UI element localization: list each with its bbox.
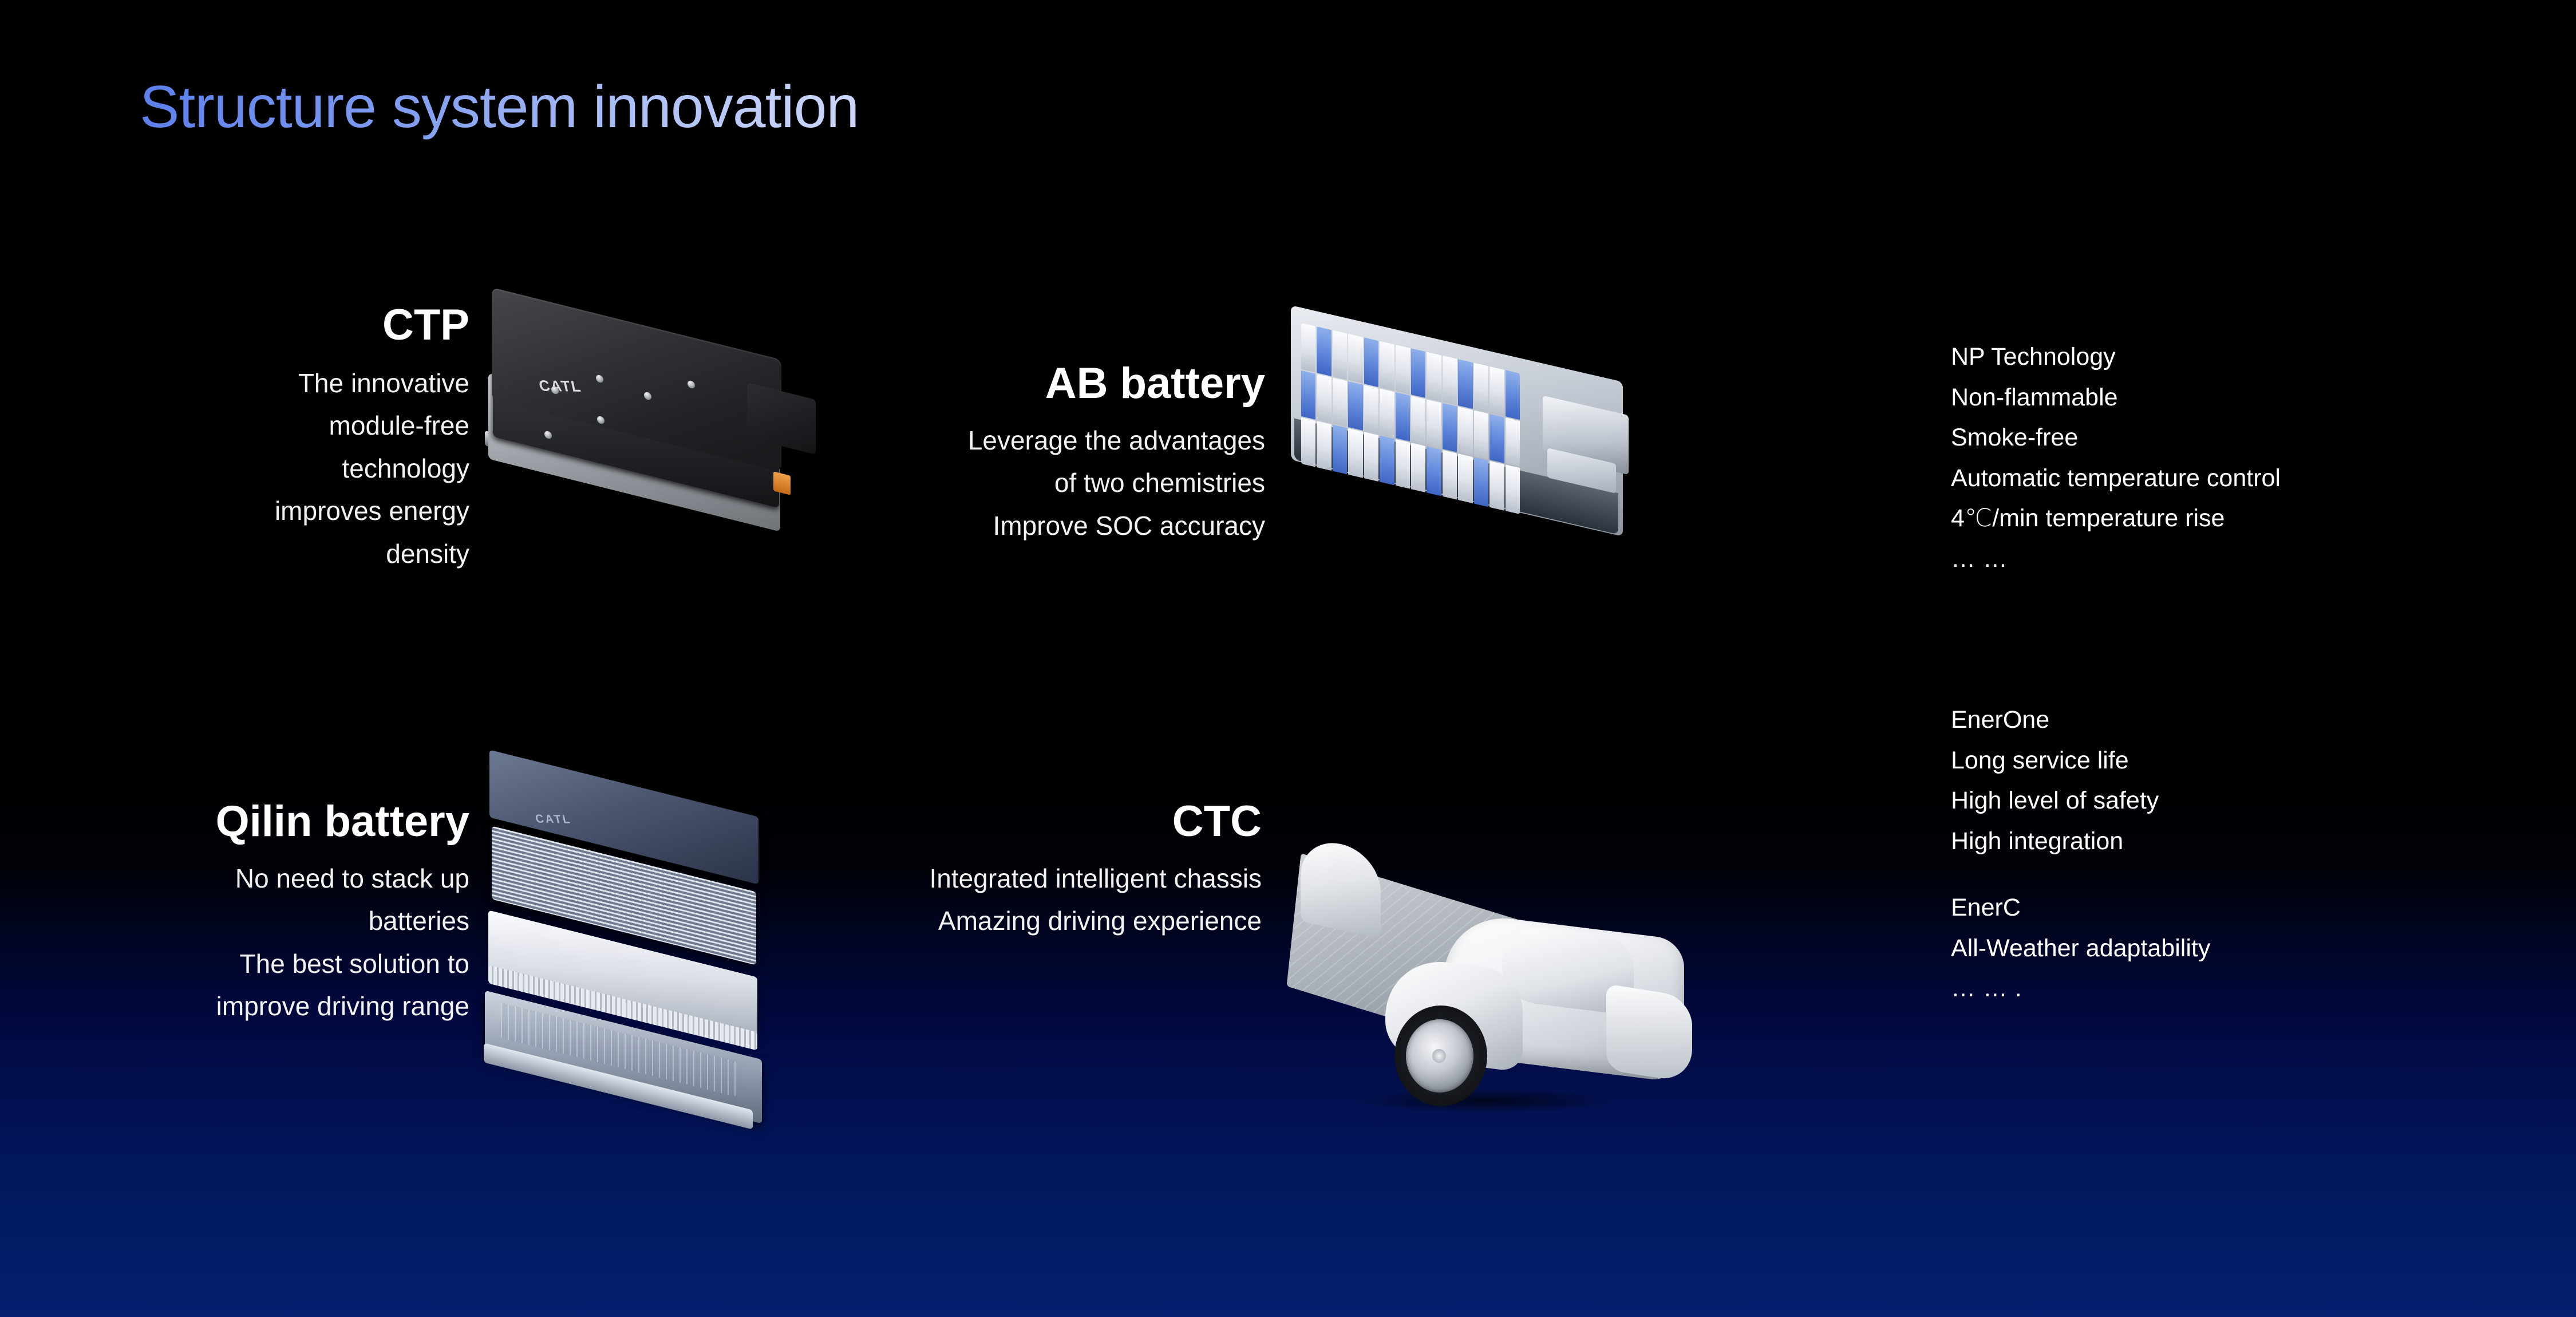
feature-heading-ab-battery: AB battery [893,361,1265,407]
pack-connector [773,471,791,495]
ab-battery-pack-image [1291,321,1646,550]
qilin-battery-exploded-image: CATL [484,779,804,1122]
feature-block-ab-battery: AB battery Leverage the advantages of tw… [893,361,1265,547]
feature-line: improve driving range [114,985,469,1028]
spec-ellipsis: ……. [1951,968,2210,1009]
spec-item: High level of safety [1951,780,2210,821]
feature-heading-ctp: CTP [206,302,469,348]
spec-item: All-Weather adaptability [1951,928,2210,969]
spec-list-energy-storage: EnerOne Long service life High level of … [1951,700,2210,1009]
feature-block-ctp: CTP The innovative module-free technolog… [206,302,469,575]
vehicle-rear-pillar [1301,835,1381,939]
catl-logo: CATL [537,377,583,396]
spec-item: Long service life [1951,740,2210,781]
feature-body-ctc: Integrated intelligent chassis Amazing d… [870,857,1262,943]
feature-line: Improve SOC accuracy [893,504,1265,547]
vehicle-shadow [1351,1088,1620,1113]
feature-line: of two chemistries [893,462,1265,504]
feature-body-qilin-battery: No need to stack up batteries The best s… [114,857,469,1028]
feature-line: Integrated intelligent chassis [870,857,1262,900]
feature-heading-ctc: CTC [870,799,1262,845]
spec-item: Smoke-free [1951,417,2281,458]
spec-item: NP Technology [1951,337,2281,377]
feature-line: module-free [206,404,469,447]
feature-line: density [206,533,469,575]
spec-item: 4℃/min temperature rise [1951,498,2281,539]
feature-block-qilin-battery: Qilin battery No need to stack up batter… [114,799,469,1028]
feature-line: The innovative [206,362,469,405]
vehicle-wheel-rim [1406,1019,1473,1093]
feature-line: No need to stack up [114,857,469,900]
spec-item: High integration [1951,821,2210,862]
ctc-chassis-vehicle-image [1288,819,1689,1128]
spec-ellipsis: …… [1951,539,2281,579]
feature-line: The best solution to [114,943,469,985]
feature-line: improves energy [206,490,469,533]
spec-spacer [1951,861,2210,888]
feature-line: technology [206,447,469,490]
page-title: Structure system innovation [140,74,859,140]
spec-item: Non-flammable [1951,377,2281,418]
ctp-battery-pack-image: CATL [484,318,816,524]
spec-item: EnerC [1951,888,2210,928]
feature-line: batteries [114,900,469,943]
feature-line: Amazing driving experience [870,900,1262,943]
spec-list-np-technology: NP Technology Non-flammable Smoke-free A… [1951,337,2281,579]
spec-item: Automatic temperature control [1951,458,2281,499]
feature-heading-qilin-battery: Qilin battery [114,799,469,845]
feature-body-ctp: The innovative module-free technology im… [206,362,469,575]
spec-item: EnerOne [1951,700,2210,740]
catl-logo: CATL [534,813,572,827]
feature-line: Leverage the advantages [893,419,1265,462]
feature-body-ab-battery: Leverage the advantages of two chemistri… [893,419,1265,547]
feature-block-ctc: CTC Integrated intelligent chassis Amazi… [870,799,1262,943]
slide-canvas: Structure system innovation CTP The inno… [0,0,2576,1317]
